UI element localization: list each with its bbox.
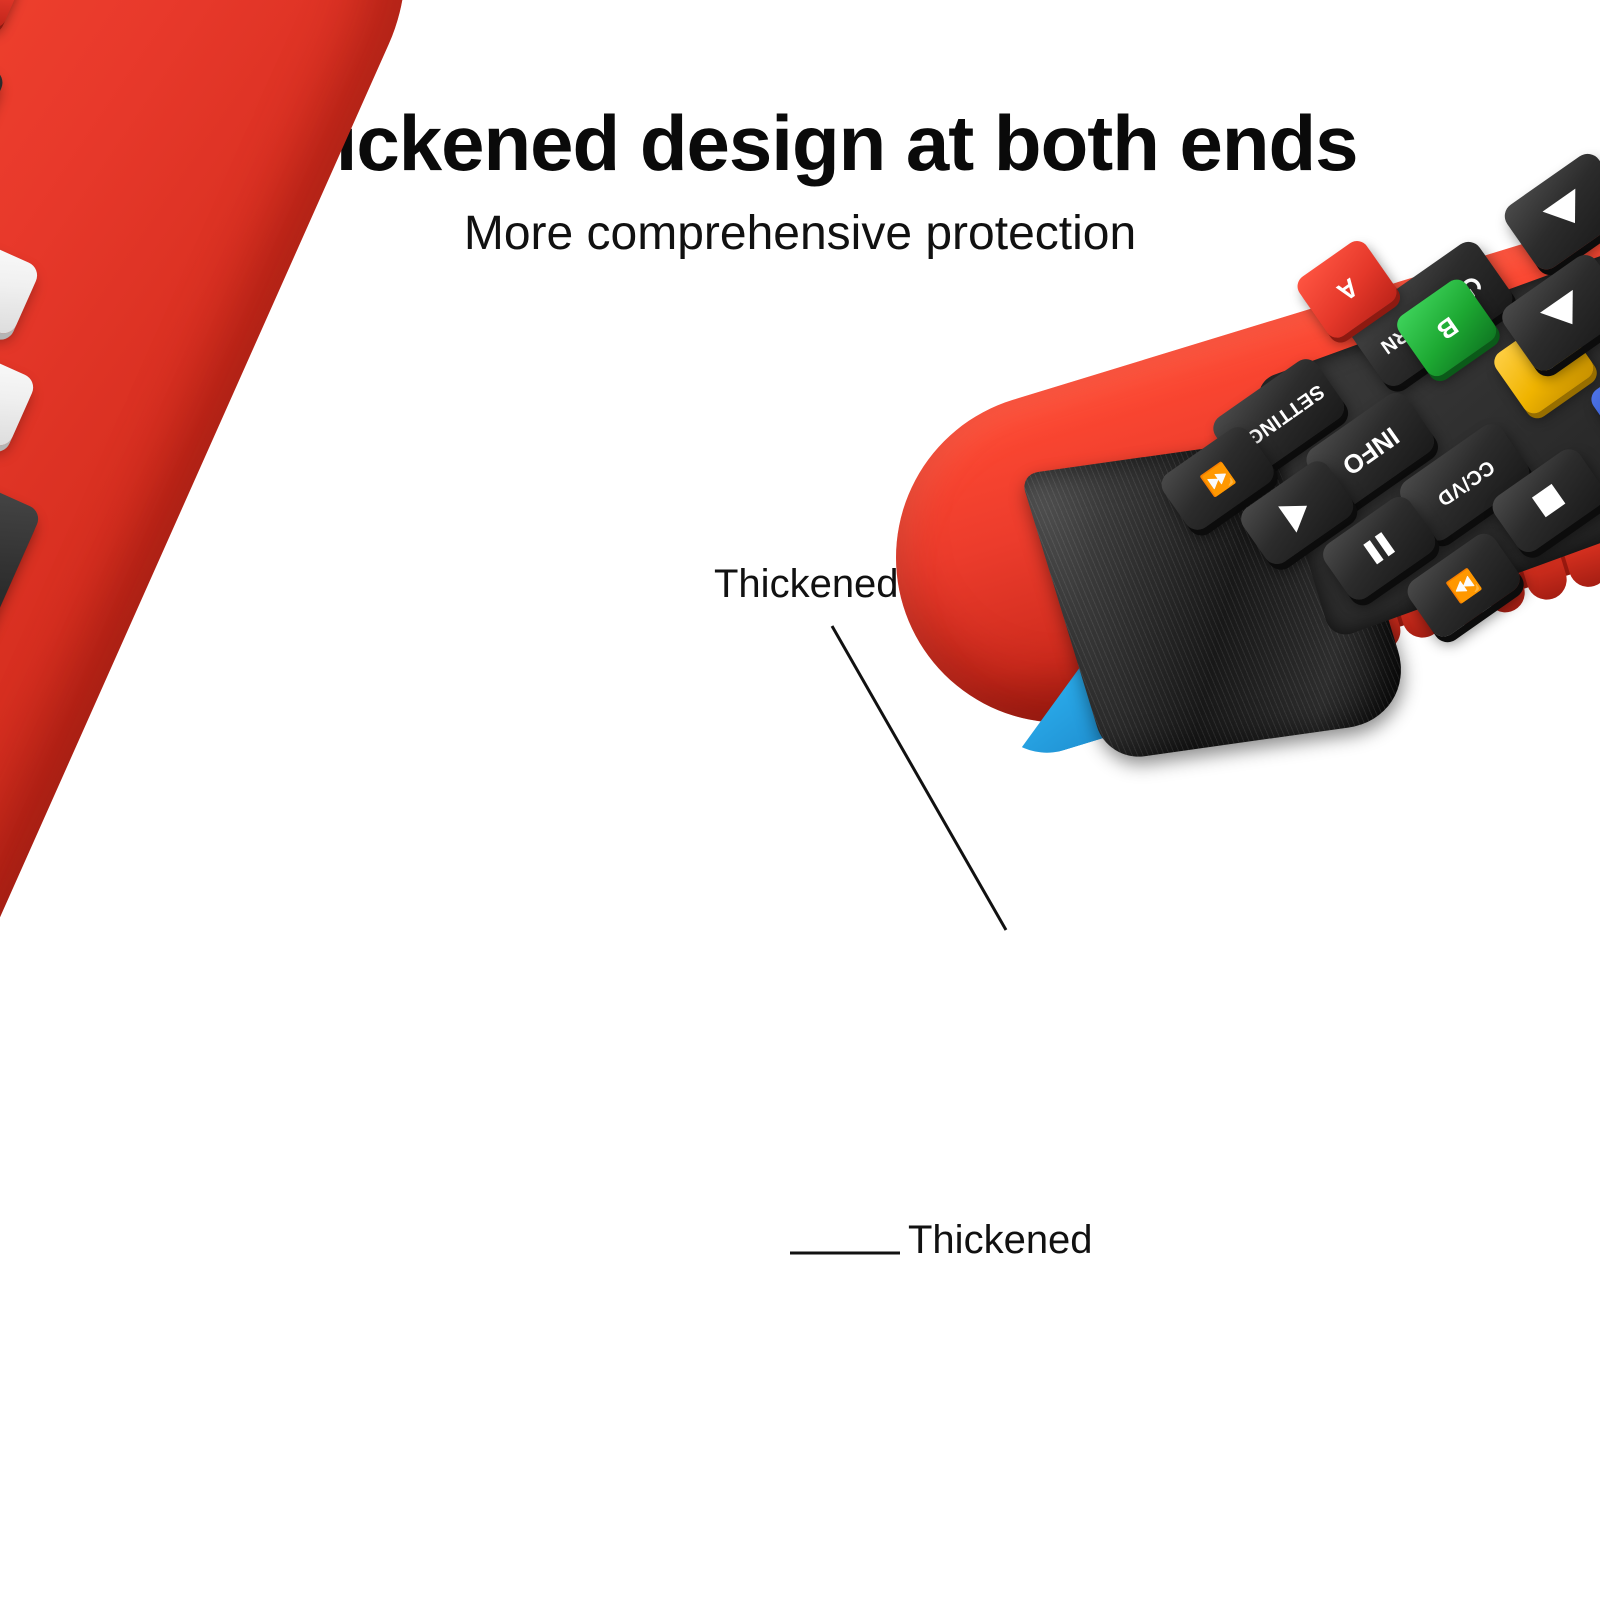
- right-button-color-a-label: A: [1330, 271, 1363, 307]
- right-button-info-label: INFO: [1336, 420, 1405, 481]
- triangle-left-icon: [1278, 493, 1316, 533]
- triangle-up-icon: [1543, 189, 1592, 235]
- fast-forward-icon: ⏩: [1443, 565, 1484, 606]
- product-image-canvas: Thickened design at both ends More compr…: [0, 0, 1600, 1600]
- rewind-icon: ⏪: [1197, 458, 1238, 499]
- callout-label-left: Thickened: [908, 1218, 1093, 1263]
- right-button-cc-vd-label: CC/VD: [1432, 454, 1498, 510]
- callout-label-right: Thickened: [714, 562, 899, 607]
- stop-icon: [1532, 484, 1565, 517]
- right-button-color-b-label: B: [1430, 310, 1463, 346]
- triangle-up-icon: [1540, 290, 1589, 336]
- left-case-body: [0, 0, 458, 1387]
